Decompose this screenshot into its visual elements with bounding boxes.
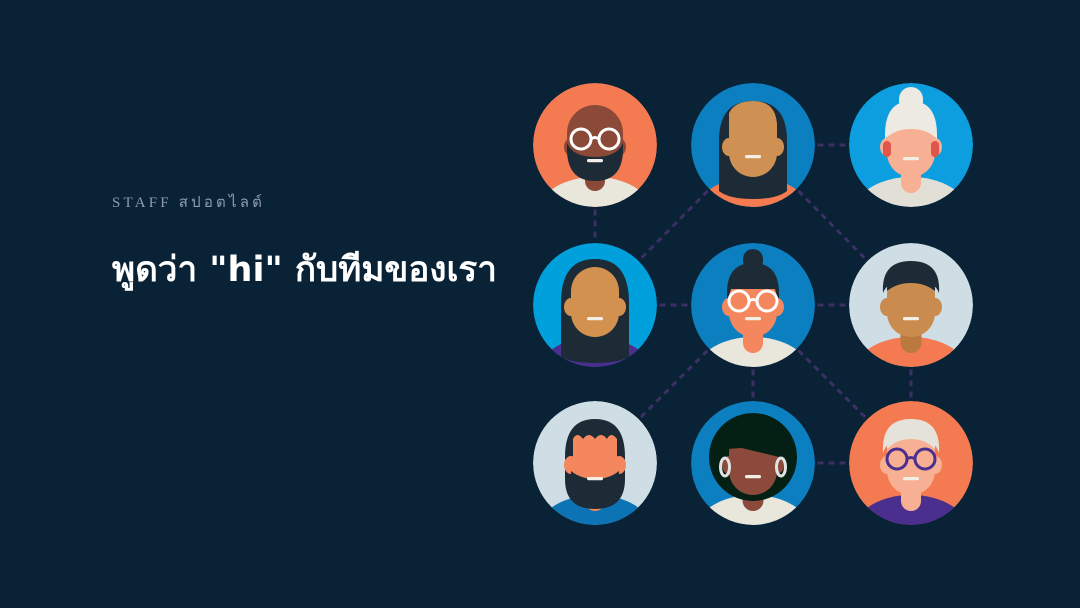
slide-canvas: STAFF สปอตไลต์ พูดว่า "hi" กับทีมของเรา xyxy=(0,0,1080,608)
avatar-bearded-person-blue-shirt[interactable] xyxy=(533,401,657,525)
connector-line xyxy=(641,192,706,258)
avatar-grid xyxy=(0,0,1080,608)
avatar-long-haired-person-orange-shirt[interactable] xyxy=(691,83,815,207)
avatar-person-with-bun-and-glasses[interactable] xyxy=(691,243,815,367)
avatar-bearded-person-with-glasses[interactable] xyxy=(533,83,657,207)
avatar-short-curly-hair-person-orange-shirt[interactable] xyxy=(849,243,973,367)
connector-line xyxy=(800,352,865,417)
avatar-person-with-afro-and-hoop-earrings[interactable] xyxy=(691,401,815,525)
connector-line xyxy=(799,192,864,258)
connector-line xyxy=(642,352,707,417)
avatar-grey-haired-person-with-round-glasses[interactable] xyxy=(849,401,973,525)
avatar-person-with-top-bun-and-earrings[interactable] xyxy=(849,83,973,207)
avatar-long-haired-person-purple-shirt[interactable] xyxy=(533,243,657,367)
